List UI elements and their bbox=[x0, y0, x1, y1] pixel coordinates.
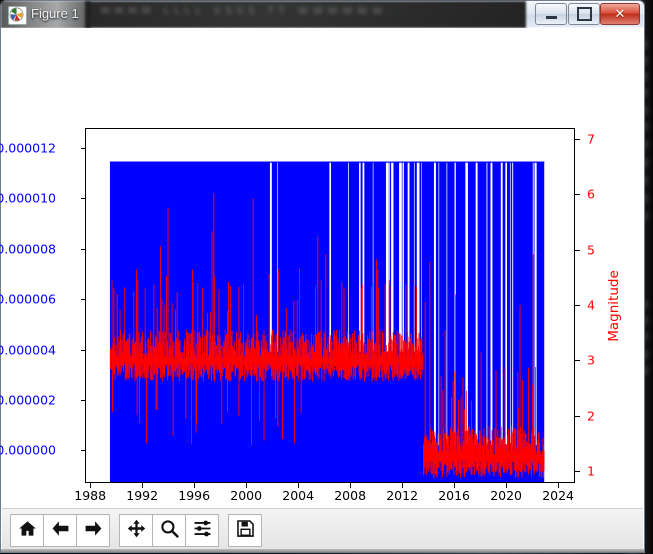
right-y-tick-label: 7 bbox=[587, 132, 595, 147]
figure-canvas[interactable]: 0.0000000.0000020.0000040.0000060.000008… bbox=[2, 28, 643, 509]
window-body: 0.0000000.0000020.0000040.0000060.000008… bbox=[0, 28, 645, 553]
left-y-tick-mark bbox=[81, 350, 86, 351]
x-tick-label: 1992 bbox=[126, 488, 158, 503]
left-y-tick-label: 0.000012 bbox=[0, 141, 56, 156]
left-y-tick-label: 0.000006 bbox=[0, 292, 56, 307]
titlebar-blur-text: MMMM LLLL SSSS TT WWWWWW bbox=[101, 6, 387, 17]
close-button[interactable]: ✕ bbox=[600, 3, 640, 25]
close-icon: ✕ bbox=[615, 8, 626, 21]
x-tick-mark bbox=[194, 483, 195, 488]
window-title: Figure 1 bbox=[31, 6, 79, 21]
toolbar-pan-button[interactable] bbox=[119, 514, 153, 547]
x-tick-label: 2004 bbox=[282, 488, 314, 503]
right-y-axis-label: Magnitude bbox=[606, 270, 622, 342]
x-tick-mark bbox=[506, 483, 507, 488]
figure-window: MMMM LLLL SSSS TT WWWWWW Figure 1 ✕ bbox=[0, 0, 645, 554]
x-tick-label: 1988 bbox=[74, 488, 106, 503]
x-tick-label: 2024 bbox=[542, 488, 574, 503]
right-y-tick-mark bbox=[575, 194, 580, 195]
x-tick-label: 2000 bbox=[230, 488, 262, 503]
toolbar-zoom-button[interactable] bbox=[152, 514, 186, 547]
floppy-disk-icon bbox=[236, 519, 255, 542]
left-y-tick-label: 0.000002 bbox=[0, 392, 56, 407]
matplotlib-toolbar bbox=[2, 508, 643, 551]
move-icon bbox=[127, 519, 146, 542]
x-tick-mark bbox=[350, 483, 351, 488]
toolbar-configure-button[interactable] bbox=[185, 514, 219, 547]
x-tick-label: 2020 bbox=[490, 488, 522, 503]
left-y-tick-mark bbox=[81, 299, 86, 300]
left-y-tick-mark bbox=[81, 198, 86, 199]
x-tick-mark bbox=[246, 483, 247, 488]
x-tick-label: 2016 bbox=[438, 488, 470, 503]
x-tick-label: 2012 bbox=[386, 488, 418, 503]
maximize-button[interactable] bbox=[568, 3, 600, 25]
toolbar-save-button[interactable] bbox=[228, 514, 262, 547]
left-y-tick-mark bbox=[81, 400, 86, 401]
plot-svg bbox=[86, 129, 574, 482]
left-y-tick-label: 0.000004 bbox=[0, 342, 56, 357]
x-tick-mark bbox=[454, 483, 455, 488]
right-y-tick-mark bbox=[575, 305, 580, 306]
toolbar-separator bbox=[218, 515, 228, 546]
toolbar-separator bbox=[109, 515, 119, 546]
right-y-tick-mark bbox=[575, 416, 580, 417]
right-y-tick-label: 6 bbox=[587, 187, 595, 202]
right-y-tick-mark bbox=[575, 139, 580, 140]
left-y-tick-label: 0.000010 bbox=[0, 191, 56, 206]
toolbar-home-button[interactable] bbox=[10, 514, 44, 547]
minimize-button[interactable] bbox=[535, 3, 567, 25]
x-tick-mark bbox=[142, 483, 143, 488]
plot-axes[interactable] bbox=[85, 128, 575, 483]
plot-area bbox=[86, 129, 574, 482]
right-y-tick-mark bbox=[575, 250, 580, 251]
right-arrow-icon bbox=[84, 519, 103, 542]
window-titlebar[interactable]: MMMM LLLL SSSS TT WWWWWW Figure 1 ✕ bbox=[0, 0, 645, 28]
right-y-tick-label: 4 bbox=[587, 297, 595, 312]
toolbar-back-button[interactable] bbox=[43, 514, 77, 547]
x-tick-mark bbox=[558, 483, 559, 488]
right-y-tick-label: 3 bbox=[587, 353, 595, 368]
x-tick-mark bbox=[402, 483, 403, 488]
right-y-tick-mark bbox=[575, 471, 580, 472]
home-icon bbox=[18, 519, 37, 542]
magnifier-icon bbox=[160, 519, 179, 542]
x-tick-mark bbox=[298, 483, 299, 488]
x-tick-label: 2008 bbox=[334, 488, 366, 503]
left-y-tick-label: 0.000008 bbox=[0, 241, 56, 256]
left-y-tick-label: 0.000000 bbox=[0, 443, 56, 458]
toolbar-buttons bbox=[10, 514, 261, 547]
left-y-tick-mark bbox=[81, 148, 86, 149]
right-y-tick-mark bbox=[575, 360, 580, 361]
right-y-tick-label: 1 bbox=[587, 463, 595, 478]
toolbar-forward-button[interactable] bbox=[76, 514, 110, 547]
minimize-icon bbox=[546, 16, 557, 19]
x-tick-mark bbox=[90, 483, 91, 488]
window-bottom-edge bbox=[1, 549, 644, 552]
right-y-tick-label: 5 bbox=[587, 242, 595, 257]
left-y-tick-mark bbox=[81, 450, 86, 451]
right-y-tick-label: 2 bbox=[587, 408, 595, 423]
maximize-icon bbox=[577, 7, 592, 21]
matplotlib-figure-icon bbox=[8, 6, 27, 25]
blue-top-cap bbox=[110, 162, 544, 163]
x-tick-label: 1996 bbox=[178, 488, 210, 503]
sliders-icon bbox=[193, 519, 212, 542]
left-y-tick-mark bbox=[81, 249, 86, 250]
left-arrow-icon bbox=[51, 519, 70, 542]
